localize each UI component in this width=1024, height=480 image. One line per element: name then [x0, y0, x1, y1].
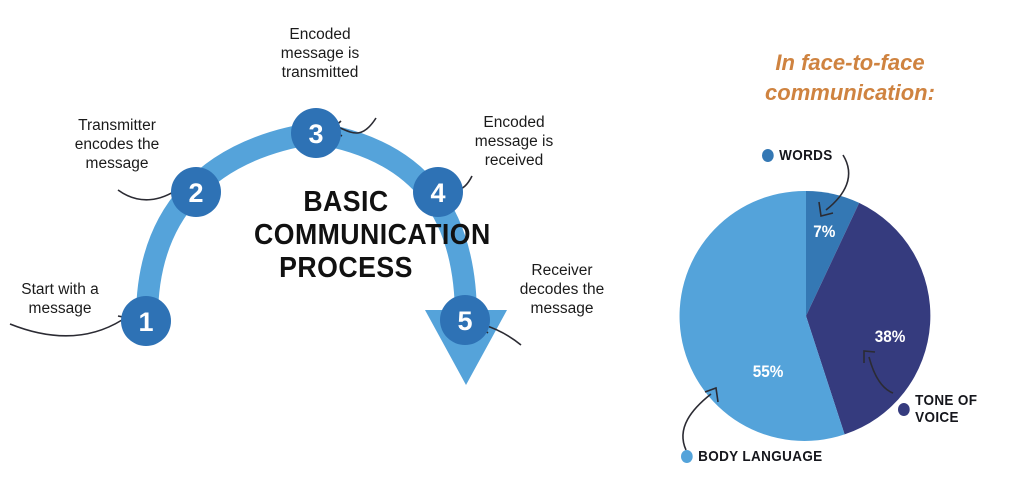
- legend-label-body-language: BODY LANGUAGE: [698, 448, 822, 465]
- legend-label-words: WORDS: [779, 147, 833, 164]
- pie-value-body-language: 55%: [753, 362, 784, 382]
- pie-chart: [0, 0, 1024, 480]
- legend-swatch-words-icon: [762, 149, 774, 162]
- pie-value-words: 7%: [813, 222, 835, 242]
- infographic-canvas: 1 2 3 4 5 BASIC COMMUNICATION PROCESS St…: [0, 0, 1024, 480]
- legend-swatch-body-language-icon: [681, 450, 693, 463]
- legend-item-tone-of-voice[interactable]: TONE OF VOICE: [898, 392, 1011, 426]
- legend-label-tone-of-voice: TONE OF VOICE: [915, 392, 1011, 426]
- pie-value-tone-of-voice: 38%: [875, 327, 906, 347]
- legend-swatch-tone-of-voice-icon: [898, 403, 910, 416]
- legend-item-body-language[interactable]: BODY LANGUAGE: [681, 448, 823, 465]
- legend-item-words[interactable]: WORDS: [762, 147, 833, 164]
